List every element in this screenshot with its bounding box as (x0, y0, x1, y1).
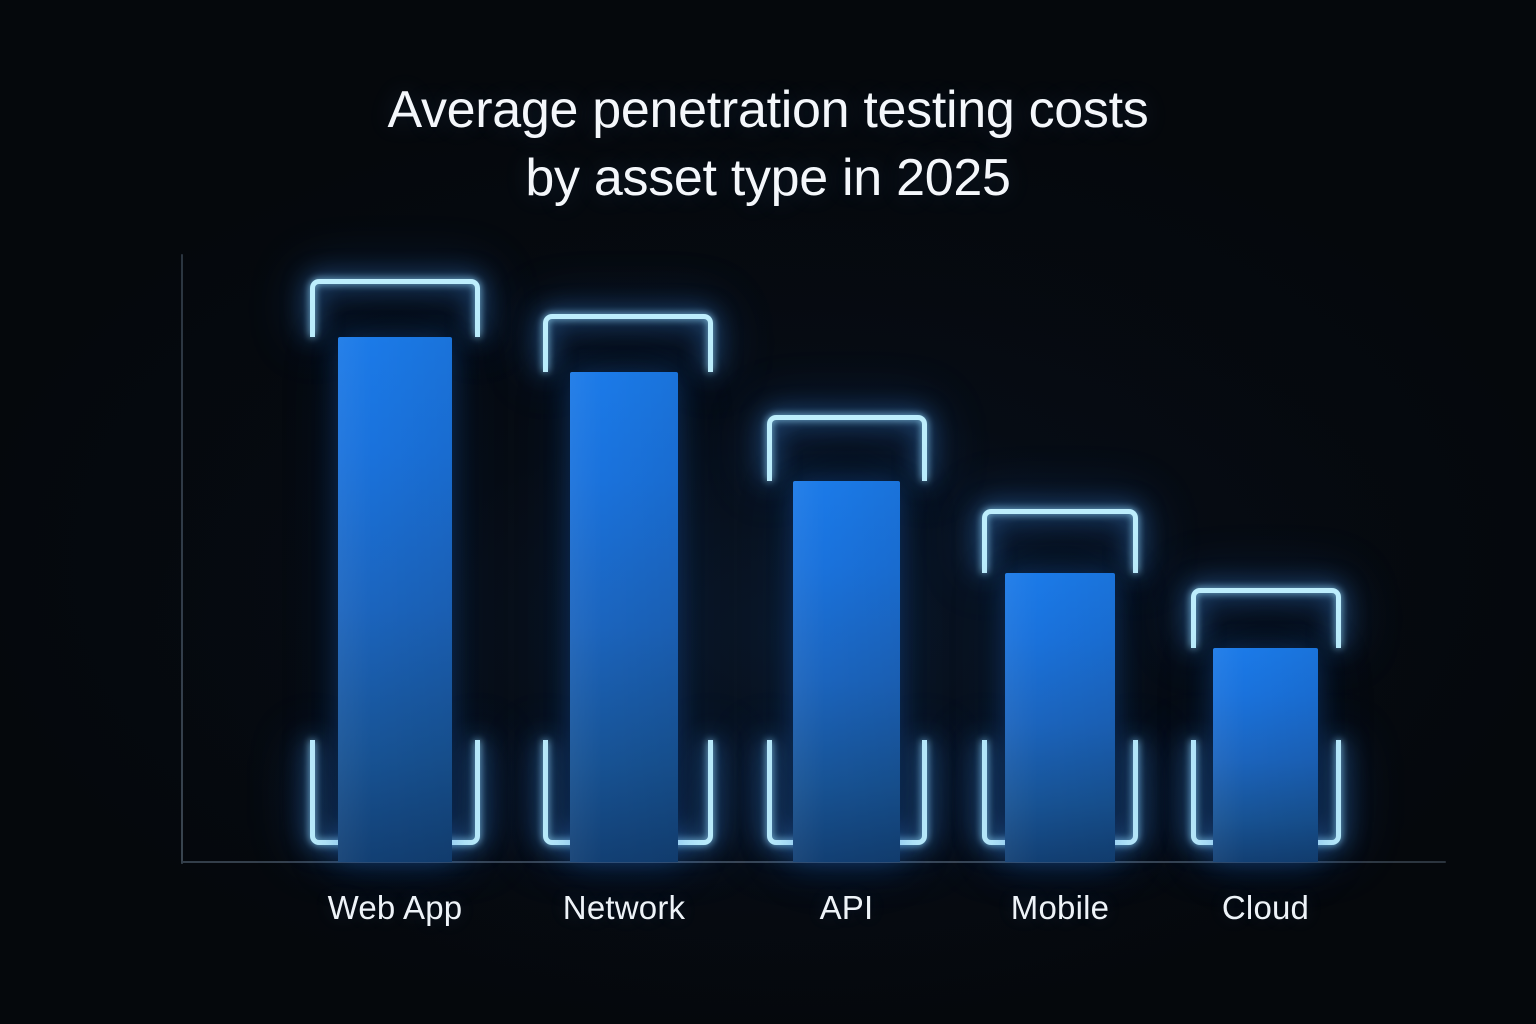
bar-mobile[interactable] (1005, 573, 1115, 862)
plot-area: Web AppNetworkAPIMobileCloud (0, 0, 1536, 1024)
bar-api[interactable] (793, 481, 900, 862)
bar-cloud[interactable] (1213, 648, 1318, 862)
x-axis-label-web-app: Web App (265, 889, 525, 927)
x-axis-label-network: Network (494, 889, 754, 927)
bar-web-app[interactable] (338, 337, 452, 862)
bracket-top-web-app (310, 279, 480, 337)
bracket-top-api (767, 415, 927, 481)
bracket-top-network (543, 314, 713, 372)
x-axis-label-cloud: Cloud (1136, 889, 1396, 927)
chart-canvas: Average penetration testing costs by ass… (0, 0, 1536, 1024)
bar-network[interactable] (570, 372, 678, 862)
bracket-top-mobile (982, 509, 1138, 573)
bracket-top-cloud (1191, 588, 1341, 648)
